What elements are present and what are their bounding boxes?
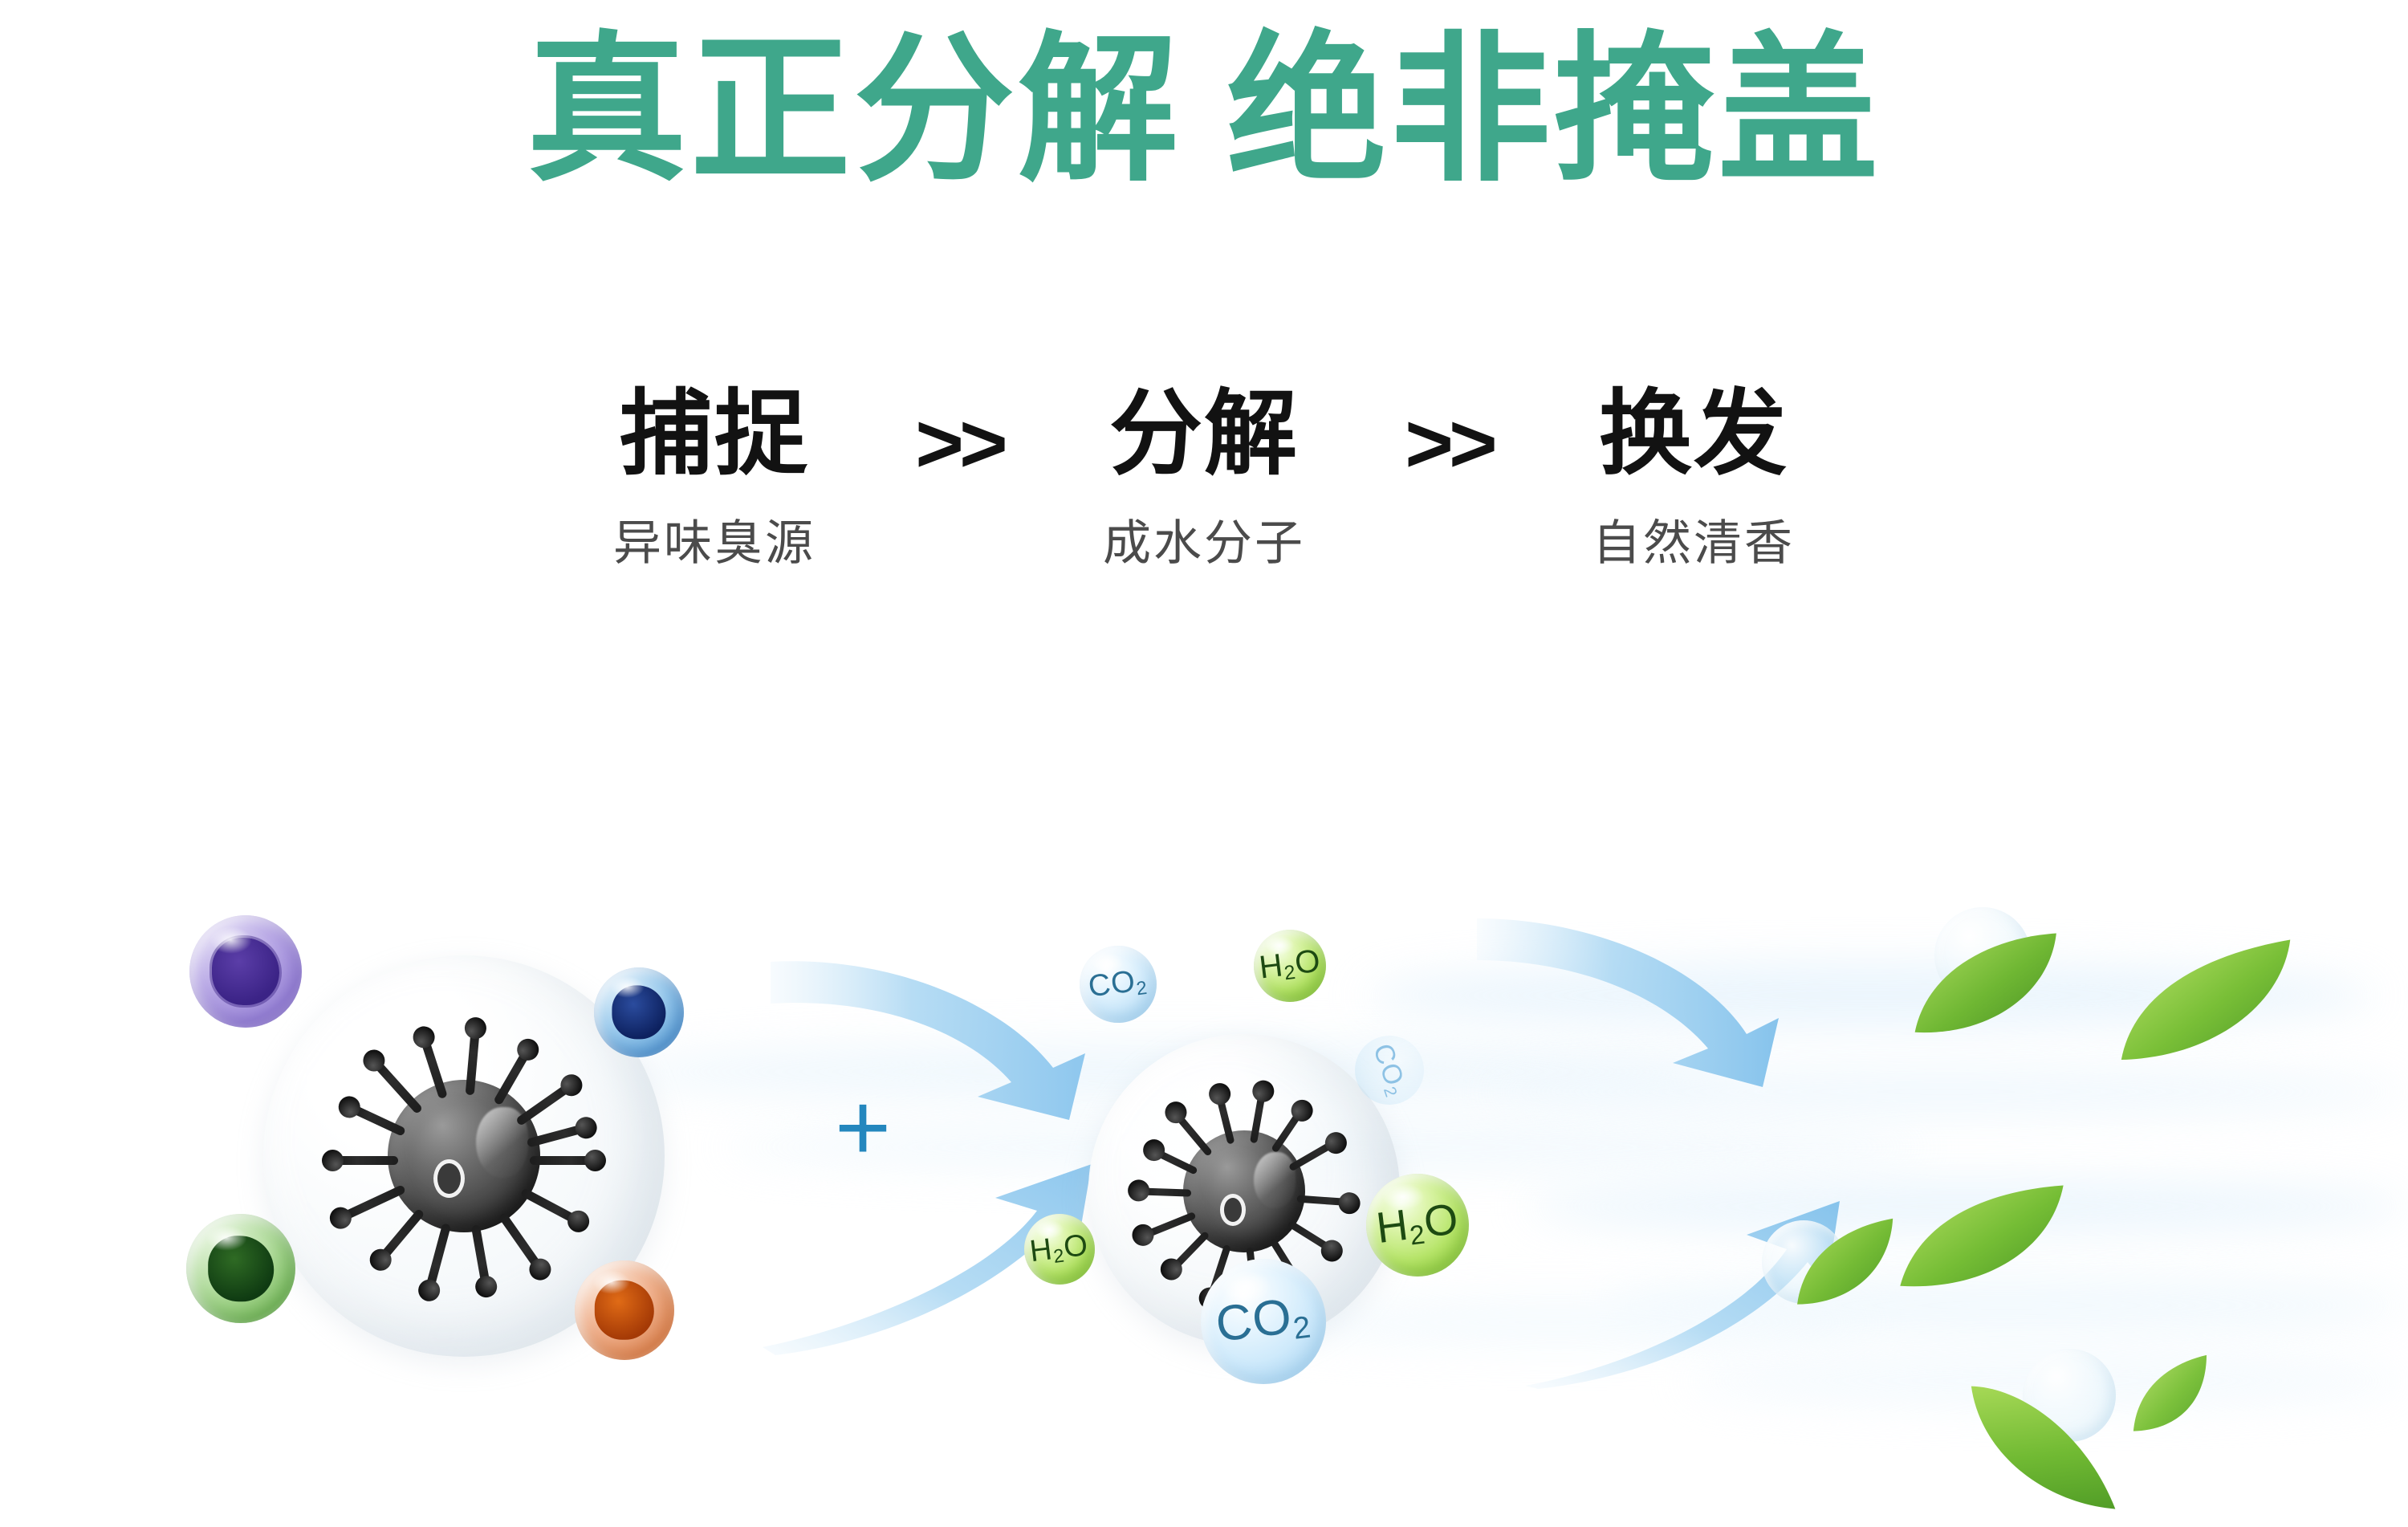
molecule-label: CO2 [1214, 1289, 1314, 1354]
molecule-label: CO2 [1087, 964, 1149, 1004]
virus-spike-icon [1135, 1187, 1191, 1196]
flow-arrow-upper [771, 947, 1124, 1132]
germ-nucleus [208, 1236, 274, 1301]
germ-blue [594, 967, 684, 1057]
molecule-label: H2O [1257, 944, 1323, 987]
germ-purple [189, 915, 302, 1028]
virus-spike-icon [1271, 1106, 1306, 1154]
virus-spike-icon [520, 1187, 584, 1227]
germ-green [186, 1214, 295, 1323]
leaf-icon [1894, 922, 2079, 1052]
germ-nucleus [595, 1281, 654, 1340]
molecule-bubble-h2o-large: H2O [1366, 1174, 1469, 1277]
germ-orange [575, 1260, 674, 1360]
step-title: 换发 [1525, 385, 1862, 483]
process-step-decompose: 分解 成水分子 [1035, 385, 1373, 574]
virus-spike-icon [329, 1156, 398, 1165]
headline-left: 真正分解 [527, 21, 1182, 200]
virus-spike-icon [375, 1208, 425, 1265]
process-steps: 捕捉 异味臭源 >> 分解 成水分子 >> 换发 自然清香 [0, 385, 2408, 574]
plus-symbol: + [835, 1079, 891, 1175]
virus-spike-icon [515, 1080, 577, 1126]
step-subtitle: 自然清香 [1525, 504, 1862, 574]
virus-spike-icon [1139, 1211, 1197, 1240]
virus-spike-icon [1287, 1220, 1337, 1256]
virus-spike-icon [530, 1156, 599, 1165]
virus-spike-icon [1297, 1195, 1353, 1207]
odor-virus-core [321, 1013, 607, 1299]
double-chevron-right-icon: >> [883, 385, 1035, 493]
virus-spike-icon [336, 1184, 406, 1224]
virus-spike-icon [1288, 1138, 1340, 1172]
molecule-bubble-co2-small: CO2 [1080, 946, 1157, 1023]
headline-right: 绝非掩盖 [1226, 21, 1881, 200]
process-illustration: + CO2 H2O CO2 [0, 803, 2408, 1464]
virus-spike-icon [493, 1044, 534, 1106]
virus-spike-icon [1167, 1231, 1210, 1275]
virus-spike-icon [424, 1223, 451, 1295]
molecule-label: CO2 [1367, 1040, 1412, 1100]
process-step-refresh: 换发 自然清香 [1525, 385, 1862, 574]
germ-nucleus [612, 985, 665, 1039]
page-title: 真正分解绝非掩盖 [0, 31, 2408, 191]
leaf-icon [2097, 931, 2317, 1080]
step-subtitle: 成水分子 [1035, 504, 1373, 574]
step-subtitle: 异味臭源 [546, 504, 883, 574]
virus-spike-icon [368, 1055, 423, 1114]
poster-canvas: 真正分解绝非掩盖 捕捉 异味臭源 >> 分解 成水分子 >> 换发 自然清香 [0, 0, 2408, 1464]
step-title: 分解 [1035, 385, 1373, 483]
germ-nucleus [212, 938, 279, 1005]
molecule-bubble-h2o-small-left: H2O [1024, 1214, 1095, 1285]
virus-spike-icon [471, 1224, 491, 1291]
molecule-bubble-h2o-small-top: H2O [1254, 930, 1326, 1002]
virus-spike-icon [1170, 1108, 1213, 1157]
molecule-label: H2O [1373, 1197, 1461, 1254]
molecule-bubble-co2-large: CO2 [1201, 1259, 1326, 1384]
step-title: 捕捉 [546, 385, 883, 483]
virus-spike-icon [498, 1212, 546, 1275]
process-step-capture: 捕捉 异味臭源 [546, 385, 883, 574]
molecule-label: H2O [1028, 1229, 1091, 1268]
flow-arrow-right-upper [1477, 915, 1814, 1100]
double-chevron-right-icon: >> [1373, 385, 1525, 493]
